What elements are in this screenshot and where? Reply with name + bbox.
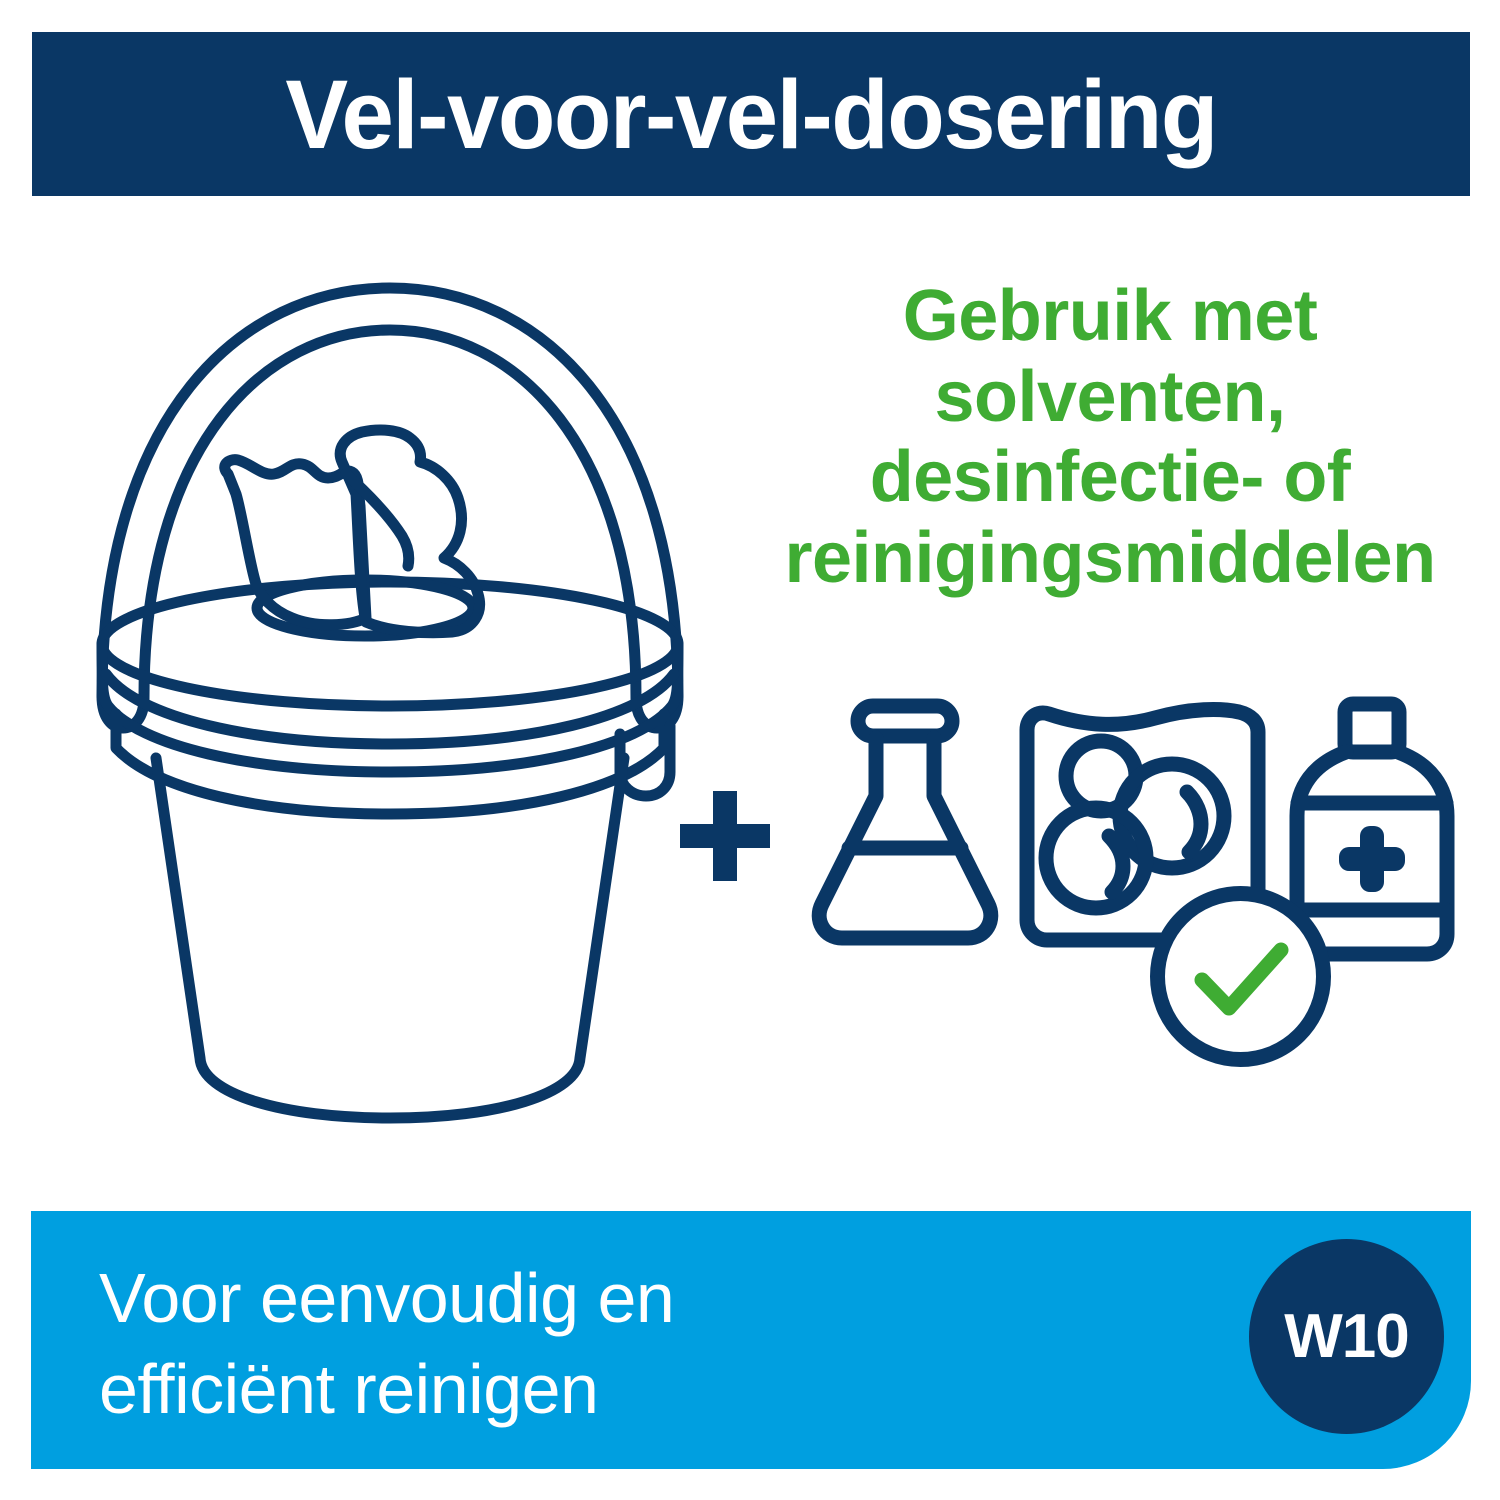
footer-tagline-line-1: Voor eenvoudig en [99,1253,999,1344]
wipes-bucket-illustration [60,266,720,1136]
bubble-large-right [1120,764,1224,868]
header-banner: Vel-voor-vel-dosering [32,32,1470,196]
headline-line-1: Gebruik met [903,276,1318,356]
check-badge-svg [1148,884,1333,1069]
plus-icon [680,791,770,881]
flask-collar [858,706,952,736]
lid-top-ellipse [102,582,678,706]
footer-tagline-line-2: efficiënt reinigen [99,1344,999,1435]
compatible-products-icon-row [660,686,1480,1066]
bubble-large-right-highlight [1187,792,1201,852]
footer-banner: Voor eenvoudig en efficiënt reinigen W10 [31,1211,1471,1469]
product-code-badge: W10 [1249,1239,1444,1434]
lid-skirt [116,714,664,814]
bottle-cap [1345,704,1399,752]
bucket-svg [60,266,720,1136]
wipe-sheet-right [340,430,479,633]
bottle-cross-symbol [1339,826,1405,892]
page-title: Vel-voor-vel-dosering [285,66,1216,163]
footer-tagline: Voor eenvoudig en efficiënt reinigen [99,1253,999,1435]
bubble-large-left-highlight [1109,836,1123,892]
flask-svg [800,698,1010,948]
plus-sign-svg [680,791,770,881]
product-code-label: W10 [1284,1306,1408,1368]
headline-line-4: reinigingsmiddelen [784,518,1435,598]
headline-line-2: solventen, [934,357,1285,437]
headline-line-3: desinfectie- of [870,437,1351,517]
check-badge-circle [1158,894,1324,1060]
headline-green: Gebruik met solventen, desinfectie- of r… [740,276,1480,599]
check-badge-icon [1148,884,1333,1069]
wipe-sheet-left [225,460,366,625]
flask-icon [800,698,1010,948]
main-content: Gebruik met solventen, desinfectie- of r… [0,196,1500,1210]
flask-body [819,738,991,938]
